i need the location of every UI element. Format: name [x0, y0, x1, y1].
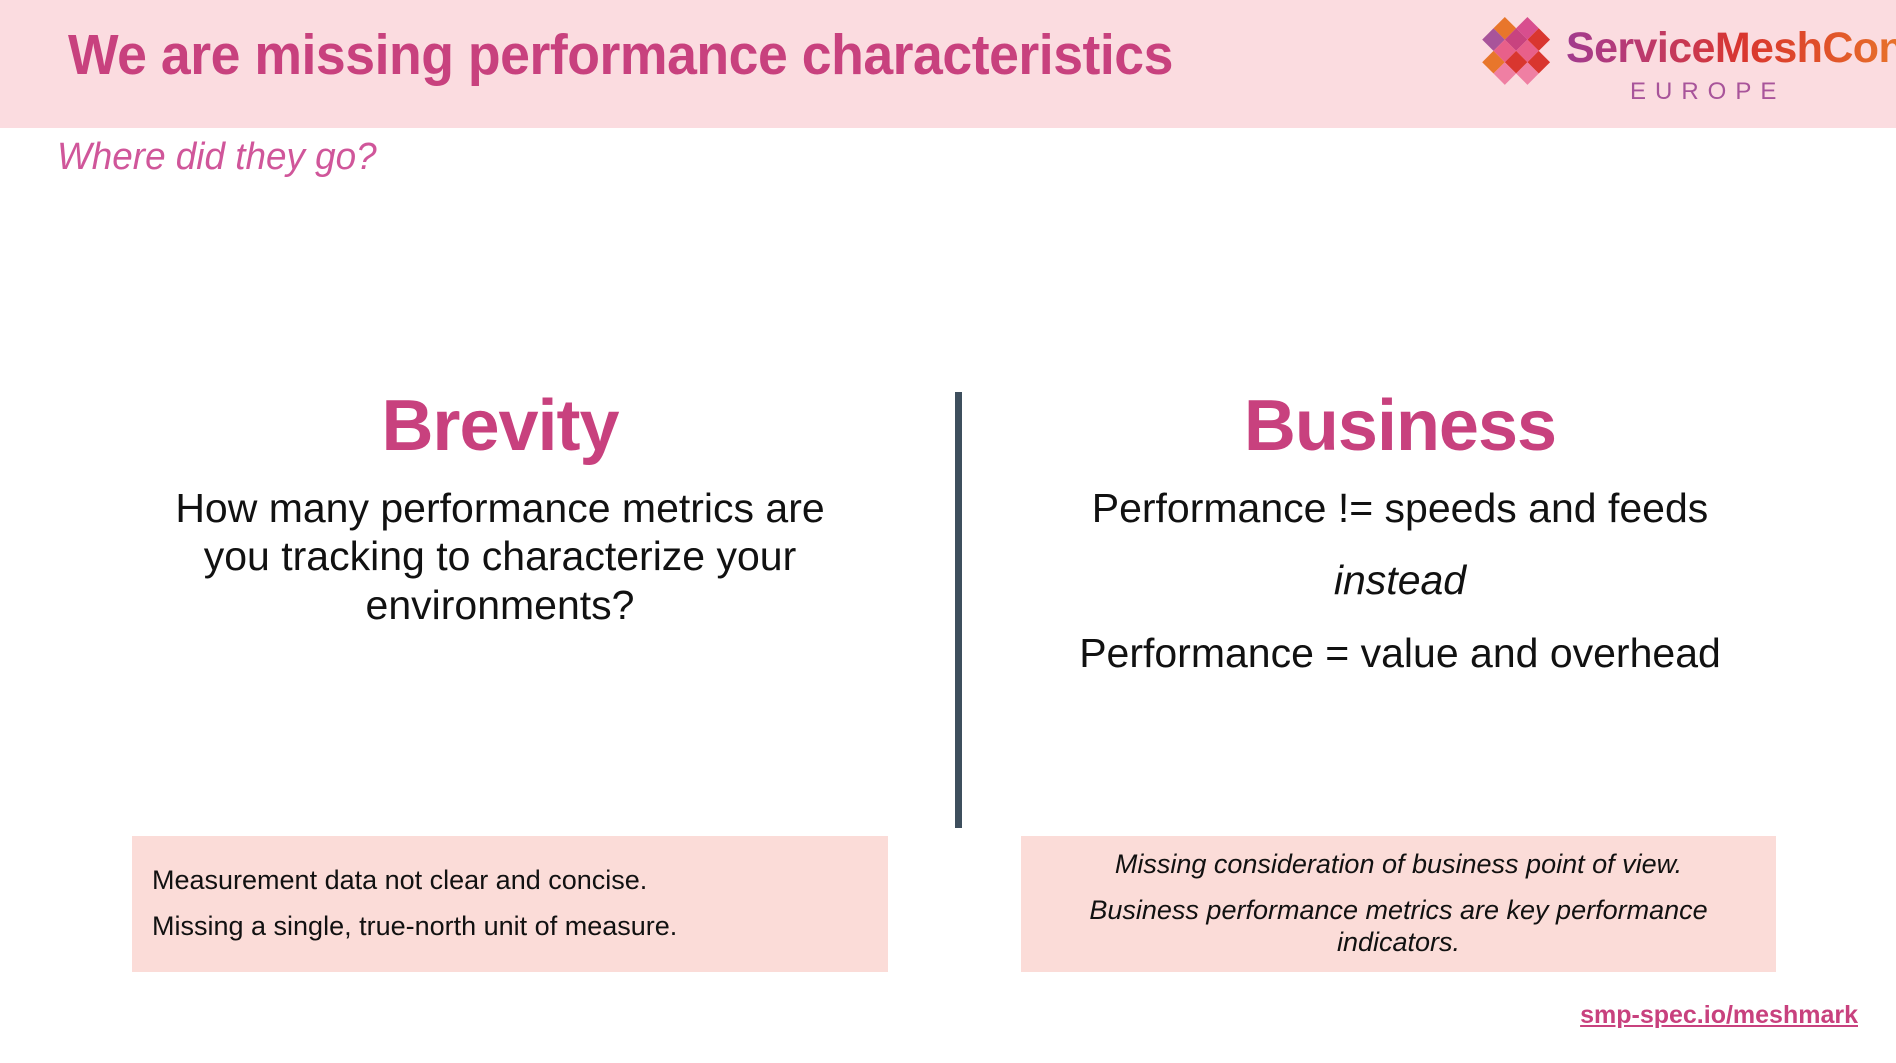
column-heading: Brevity	[110, 390, 890, 462]
callout-line: Missing consideration of business point …	[1037, 849, 1760, 881]
body-line: environments?	[132, 581, 868, 629]
servicemeshcon-logo: ServiceMeshCon EUROPE	[1468, 8, 1888, 120]
column-divider	[955, 392, 962, 828]
body-line: you tracking to characterize your	[132, 532, 868, 580]
callout-line: Business performance metrics are key per…	[1037, 895, 1760, 959]
callout-brevity: Measurement data not clear and concise. …	[132, 836, 888, 972]
body-line: Performance != speeds and feeds	[1010, 484, 1790, 532]
column-brevity: Brevity How many performance metrics are…	[110, 390, 890, 629]
column-business: Business Performance != speeds and feeds…	[1010, 390, 1790, 677]
mesh-diamond-icon	[1468, 12, 1560, 94]
header-band: We are missing performance characteristi…	[0, 0, 1896, 128]
page-title: We are missing performance characteristi…	[68, 22, 1173, 88]
callout-line: Measurement data not clear and concise.	[152, 865, 888, 897]
callout-line: Missing a single, true-north unit of mea…	[152, 911, 888, 943]
callout-business: Missing consideration of business point …	[1021, 836, 1776, 972]
body-line: Performance = value and overhead	[1010, 629, 1790, 677]
column-body: Performance != speeds and feeds instead …	[1010, 484, 1790, 677]
logo-wordmark: ServiceMeshCon	[1566, 24, 1896, 73]
body-line: How many performance metrics are	[132, 484, 868, 532]
slide-subtitle: Where did they go?	[57, 136, 377, 179]
footer-link[interactable]: smp-spec.io/meshmark	[1580, 1001, 1858, 1030]
column-body: How many performance metrics are you tra…	[110, 484, 890, 629]
body-line-emphasis: instead	[1010, 556, 1790, 604]
logo-region-label: EUROPE	[1630, 78, 1785, 106]
column-heading: Business	[1010, 390, 1790, 462]
